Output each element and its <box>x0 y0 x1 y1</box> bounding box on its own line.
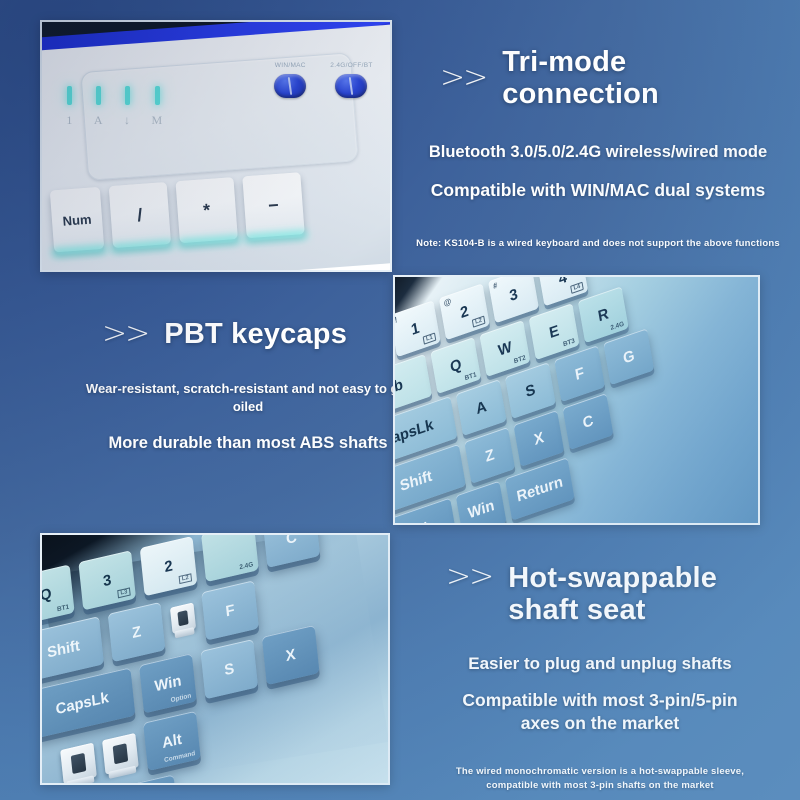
hot-swap-socket <box>170 603 196 634</box>
led-indicator: M <box>152 86 163 128</box>
feature-bullet-1: Easier to plug and unplug shafts <box>412 653 788 676</box>
chevron-right-icon: >> <box>440 63 486 93</box>
keycap-sub-legend: BT2 <box>514 355 527 366</box>
keycap-legend: C <box>285 533 297 548</box>
spacer <box>40 744 51 748</box>
keycap-legend: Shift <box>47 637 81 662</box>
keycap: WinOption <box>139 653 197 713</box>
keycap-top-legend: ! <box>394 316 398 326</box>
keycaps-photo-content: F2 !1L1 @2L2 #3 $4L4 Tab QBT1 WBT2 EBT3 … <box>395 277 758 523</box>
keycap-legend: CapsLk <box>393 416 435 451</box>
keycap-legend: G <box>622 347 636 368</box>
switch-win-mac: WIN/MAC <box>274 62 306 98</box>
keycap: QBT1 <box>40 564 75 624</box>
keycap-legend: CapsLk <box>55 689 110 718</box>
keycap: F <box>202 580 260 640</box>
feature-note: The wired monochromatic version is a hot… <box>412 765 788 793</box>
keycap: C <box>563 394 614 451</box>
keycap-legend: F <box>574 364 586 384</box>
feature-title-line1: Tri-mode <box>502 46 626 78</box>
keycap-num: Num <box>50 187 104 252</box>
keycap-slash: / <box>109 182 171 248</box>
keycap-legend: W <box>497 338 513 360</box>
keycap: S <box>505 363 556 420</box>
keycap: @2L2 <box>439 284 490 341</box>
keycap: QBT1 <box>431 338 482 395</box>
keycap-legend: F <box>225 601 236 620</box>
keycap: Shift <box>40 616 104 682</box>
chevron-right-icon: >> <box>446 562 492 592</box>
photo-hot-swap-sockets: QBT1 3L3 2L2 2.4G C Shift Z F CapsLk Win… <box>40 533 390 785</box>
keycap-legend: Win <box>467 497 496 523</box>
feature-title-line2: connection <box>502 78 659 110</box>
keycap-top-legend: # <box>492 281 498 291</box>
keycap-legend: Z <box>132 623 143 642</box>
keycap: 3L3 <box>79 550 137 610</box>
feature-bullet-2: Compatible with WIN/MAC dual systems <box>412 179 784 203</box>
keycap-legend: R <box>597 305 610 325</box>
led-bar-icon <box>96 86 101 105</box>
keycap-legend: Z <box>484 446 496 466</box>
hotswap-photo-content: QBT1 3L3 2L2 2.4G C Shift Z F CapsLk Win… <box>42 535 388 783</box>
keycap-layer-badge: L4 <box>570 282 584 294</box>
keycap-legend: Shift <box>399 467 434 495</box>
keycap-top-legend: @ <box>443 297 452 309</box>
keycap-legend: S <box>524 381 536 401</box>
rotary-knob-icon <box>335 74 367 98</box>
keycap-layer-badge: L2 <box>179 573 193 584</box>
led-indicator: 1 <box>66 86 73 128</box>
keycap: Win <box>456 481 507 525</box>
led-bar-icon <box>155 86 160 105</box>
feature-bullet-1: Bluetooth 3.0/5.0/2.4G wireless/wired mo… <box>412 141 784 163</box>
keycap-minus: − <box>242 172 304 238</box>
photo-pbt-keycaps: F2 !1L1 @2L2 #3 $4L4 Tab QBT1 WBT2 EBT3 … <box>393 275 760 525</box>
keycap-layer-badge: L3 <box>118 588 132 599</box>
keycap-legend: Alt <box>162 730 183 752</box>
led-indicator: A <box>94 86 103 128</box>
led-label: M <box>152 113 163 128</box>
feature-title-line1: Hot-swappable <box>508 562 717 594</box>
keycap-sub-legend: Option <box>171 692 192 704</box>
feature-block-tri-mode: >> Tri-modeconnection Bluetooth 3.0/5.0/… <box>412 46 784 251</box>
keycap: A <box>456 380 507 437</box>
keycap: X <box>514 410 565 467</box>
keycap-legend: Ctrl <box>402 519 429 525</box>
keycap-legend: Q <box>40 585 53 605</box>
led-label: ↓ <box>124 113 131 128</box>
feature-heading-hot-swappable: >> Hot-swappableshaft seat <box>412 562 788 627</box>
keycap-sub-legend: 2.4G <box>239 561 253 571</box>
feature-title: Tri-modeconnection <box>502 46 659 111</box>
keycap: Z <box>108 602 166 662</box>
feature-block-pbt-keycaps: >> PBT keycaps Wear-resistant, scratch-r… <box>80 318 416 454</box>
keycap: R2.4G <box>578 287 629 344</box>
keycap-sub-legend: 2.4G <box>610 321 625 333</box>
keycap-legend: Tab <box>393 376 404 401</box>
keycap-grid: F2 !1L1 @2L2 #3 $4L4 Tab QBT1 WBT2 EBT3 … <box>393 275 760 525</box>
keycap-legend: 3 <box>103 571 113 590</box>
hot-swap-socket <box>102 733 139 775</box>
feature-bullet-1: Wear-resistant, scratch-resistant and no… <box>80 380 416 415</box>
chevron-right-icon: >> <box>102 319 148 349</box>
hot-swap-socket <box>60 743 97 785</box>
led-indicator-group: 1 A ↓ M <box>66 86 162 128</box>
switch-connection-mode: 2.4G/OFF/BT <box>330 62 372 98</box>
rotary-knob-icon <box>274 74 306 98</box>
keycap-sub-legend: BT3 <box>563 338 576 349</box>
led-bar-icon <box>125 86 130 105</box>
keycap-legend: 2 <box>459 302 470 322</box>
keycap-layer-badge: L1 <box>423 333 437 345</box>
switch-label: WIN/MAC <box>275 62 306 69</box>
feature-bullet-2: Compatible with most 3-pin/5-pinaxes on … <box>412 689 788 735</box>
feature-note-line1: The wired monochromatic version is a hot… <box>456 766 744 777</box>
keycap: EBT3 <box>529 304 580 361</box>
keycap-sub-legend: Command <box>164 750 196 764</box>
keycap: !1L1 <box>393 301 441 358</box>
keycap-sub-legend: BT1 <box>57 604 70 614</box>
keycap-legend: 2 <box>164 557 174 576</box>
keycap-legend: 3 <box>508 285 519 305</box>
feature-heading-pbt: >> PBT keycaps <box>80 318 416 350</box>
keycap-legend: E <box>548 322 560 342</box>
hotswap-key-grid: QBT1 3L3 2L2 2.4G C Shift Z F CapsLk Win… <box>40 533 390 785</box>
keycap-legend: X <box>285 645 297 664</box>
feature-block-hot-swappable: >> Hot-swappableshaft seat Easier to plu… <box>412 562 788 793</box>
keycap-legend: Q <box>449 356 463 377</box>
switch-label: 2.4G/OFF/BT <box>330 62 372 69</box>
rotary-switch-group: WIN/MAC 2.4G/OFF/BT <box>274 62 372 98</box>
keycap-legend: 4 <box>557 275 568 288</box>
feature-note: Note: KS104-B is a wired keyboard and do… <box>412 237 784 251</box>
keycap-legend: Return <box>516 473 565 506</box>
feature-heading-tri-mode: >> Tri-modeconnection <box>412 46 784 111</box>
feature-title: PBT keycaps <box>164 318 347 350</box>
keycap: F <box>554 346 605 403</box>
keycap: S <box>201 639 259 699</box>
keycap-legend: S <box>224 660 236 679</box>
keycap: G <box>603 329 654 386</box>
keycap: X <box>262 625 320 685</box>
feature-note-line2: compatible with most 3-pin shafts on the… <box>486 780 713 791</box>
feature-title: Hot-swappableshaft seat <box>508 562 717 627</box>
keycap: Z <box>464 427 515 484</box>
keycap: AltCommand <box>143 711 201 771</box>
control-panel-photo-content: 1 A ↓ M WIN/MAC <box>42 22 390 270</box>
product-feature-poster: 1 A ↓ M WIN/MAC <box>0 0 800 800</box>
led-indicator: ↓ <box>124 86 131 128</box>
keycap: 2.4G <box>201 533 259 582</box>
keycap-layer-badge: L2 <box>472 316 486 328</box>
feature-bullet-2-line2: axes on the market <box>521 713 680 733</box>
feature-bullet-2-line1: Compatible with most 3-pin/5-pin <box>462 690 737 710</box>
keycap-legend: 1 <box>410 319 421 339</box>
keycap-legend: X <box>533 429 545 449</box>
keycap: 2L2 <box>140 536 198 596</box>
feature-title-line2: shaft seat <box>508 594 645 626</box>
led-label: 1 <box>66 113 73 128</box>
keycap: WBT2 <box>480 321 531 378</box>
keycap-legend: A <box>475 398 488 418</box>
keycap-asterisk: * <box>175 177 237 243</box>
led-bar-icon <box>67 86 72 105</box>
keycap-sub-legend: BT1 <box>464 372 477 383</box>
led-label: A <box>94 113 103 128</box>
keycap-legend: Win <box>154 672 182 695</box>
keycap-legend: C <box>582 412 595 432</box>
feature-bullet-2: More durable than most ABS shafts <box>80 432 416 454</box>
keycap: C <box>263 533 321 568</box>
photo-keyboard-control-panel: 1 A ↓ M WIN/MAC <box>40 20 392 272</box>
